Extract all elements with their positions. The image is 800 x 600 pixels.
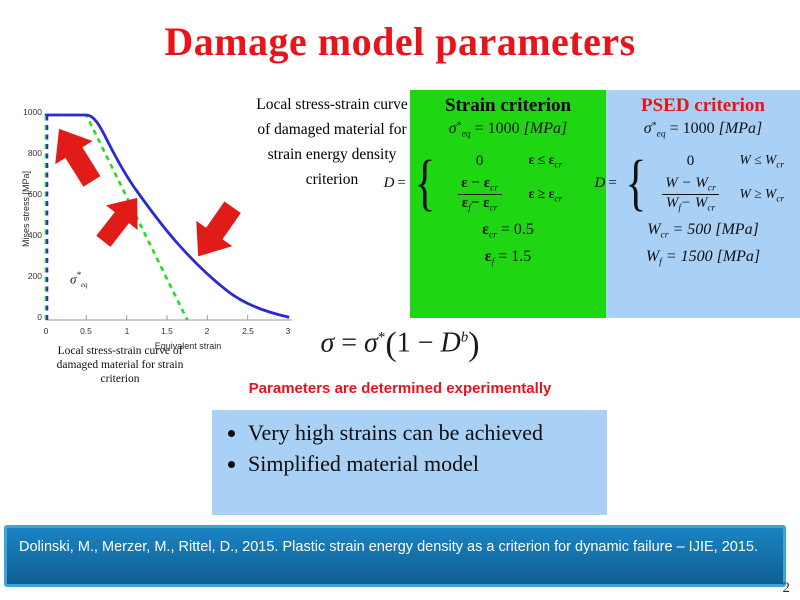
psed-case-one-cond-text: W ≤ W [740, 152, 777, 167]
parameters-note: Parameters are determined experimentally [0, 380, 800, 397]
master-eq-lhs: σ [320, 328, 334, 359]
strain-sigma-unit: [MPa] [524, 120, 568, 137]
psed-wf-value: = 1500 [MPa] [666, 248, 760, 265]
strain-epsilon-f-value: = 1.5 [498, 248, 531, 265]
strain-frac-num-text: ε − ε [461, 175, 490, 191]
master-eq-close-paren: ) [468, 326, 479, 363]
strain-case-two-cond-sub: cr [554, 194, 562, 204]
arrow-up-left-icon [48, 122, 104, 190]
strain-frac-num-sub: cr [490, 184, 498, 194]
strain-case-two-fraction: ε − εcr εf− εcr [441, 175, 519, 214]
page-number: 2 [783, 580, 791, 597]
chart-y-ticks: 1000 800 600 400 200 0 [8, 104, 42, 314]
strain-case-two-cond-text: ε ≥ ε [529, 186, 555, 201]
master-eq-rhs-sigma: σ [364, 328, 378, 359]
psed-wcr-symbol: W [647, 221, 660, 238]
strain-epsilon-cr-value: = 0.5 [501, 221, 534, 238]
psed-case-one-cond: W ≤ Wcr [740, 152, 800, 170]
damage-master-equation: σ = σ*(1 − Db) [0, 326, 800, 364]
strain-criterion-panel: Strain criterion σ*eq = 1000 [MPa] D = {… [410, 90, 606, 318]
strain-case-one: 0 ε ≤ εcr [441, 152, 601, 170]
y-tick-400: 400 [8, 230, 42, 240]
arrow-up-right-icon [94, 190, 146, 250]
strain-case-two: ε − εcr εf− εcr ε ≥ εcr [441, 175, 601, 214]
strain-case-two-cond: ε ≥ εcr [529, 186, 601, 204]
y-tick-800: 800 [8, 148, 42, 158]
strain-case-one-cond: ε ≤ εcr [529, 152, 601, 170]
psed-wcr-value: = 500 [MPa] [672, 221, 758, 238]
psed-case-one: 0 W ≤ Wcr [652, 152, 800, 170]
strain-frac-den-rest-sub: cr [490, 204, 498, 214]
strain-damage-equals: = [397, 175, 405, 192]
left-brace-icon: { [625, 161, 646, 206]
master-eq-d: D [440, 328, 460, 359]
strain-frac-den-rest: − ε [471, 195, 490, 211]
psed-damage-equals: = [608, 175, 616, 192]
strain-case-one-value: 0 [441, 153, 519, 170]
psed-wcr-line: Wcr = 500 [MPa] [606, 221, 800, 240]
psed-case-one-value: 0 [652, 153, 730, 170]
psed-damage-symbol: D [594, 175, 605, 192]
psed-frac-den-first: W [666, 195, 679, 211]
psed-sigma-unit: [MPa] [719, 120, 763, 137]
list-item: Simplified material model [248, 451, 601, 478]
y-tick-200: 200 [8, 271, 42, 281]
strain-epsilon-f-line: εf = 1.5 [410, 248, 606, 267]
arrow-down-left-icon [186, 198, 246, 264]
strain-damage-symbol: D [384, 175, 395, 192]
psed-sigma-symbol: σ [644, 120, 652, 137]
psed-wf-line: Wf = 1500 [MPa] [606, 248, 800, 267]
psed-frac-numerator: W − Wcr [661, 175, 720, 194]
strain-sigma-symbol: σ [449, 120, 457, 137]
psed-frac-num-text: W − W [665, 175, 708, 191]
psed-case-two-cond-text: W ≥ W [740, 186, 777, 201]
sigma-eq-label: σ*eq [70, 270, 88, 289]
psed-damage-piecewise: D = { 0 W ≤ Wcr W − Wcr Wf− Wcr [606, 152, 800, 214]
strain-epsilon-f-sub: f [492, 257, 495, 267]
master-eq-equals: = [341, 328, 357, 359]
strain-frac-denominator: εf− εcr [458, 194, 502, 214]
slide-canvas: Damage model parameters Mises stress [MP… [0, 0, 800, 600]
strain-damage-piecewise: D = { 0 ε ≤ εcr ε − εcr εf− εcr [410, 152, 606, 214]
strain-sigma-equals: = [475, 120, 484, 137]
strain-epsilon-f-symbol: ε [485, 248, 492, 265]
psed-frac-den-rest-sub: cr [707, 204, 715, 214]
strain-sigma-value: 1000 [488, 120, 520, 137]
psed-frac-num-sub: cr [708, 184, 716, 194]
list-item: Very high strains can be achieved [248, 420, 601, 447]
strain-case-one-cond-sub: cr [554, 160, 562, 170]
psed-case-two-cond: W ≥ Wcr [740, 186, 800, 204]
psed-criterion-heading: PSED criterion [606, 94, 800, 118]
y-tick-0: 0 [8, 312, 42, 322]
sigma-star: * [76, 270, 81, 280]
psed-case-one-cond-sub: cr [776, 160, 784, 170]
page-title: Damage model parameters [0, 18, 800, 65]
psed-wcr-sub: cr [661, 231, 669, 241]
y-tick-1000: 1000 [8, 107, 42, 117]
y-tick-600: 600 [8, 189, 42, 199]
chart-x-tickmarks [46, 315, 288, 320]
conclusions-box: Very high strains can be achieved Simpli… [212, 410, 607, 515]
strain-epsilon-cr-symbol: ε [482, 221, 489, 238]
strain-case-one-cond-text: ε ≤ ε [529, 152, 555, 167]
strain-epsilon-cr-line: εcr = 0.5 [410, 221, 606, 240]
psed-wf-sub: f [659, 257, 662, 267]
psed-criterion-panel: PSED criterion σ*eq = 1000 [MPa] D = { 0… [606, 90, 800, 318]
criteria-panels: Strain criterion σ*eq = 1000 [MPa] D = {… [410, 90, 800, 318]
master-eq-one: 1 [397, 328, 411, 359]
conclusions-list: Very high strains can be achieved Simpli… [226, 420, 601, 478]
strain-criterion-heading: Strain criterion [410, 94, 606, 118]
master-eq-minus: − [418, 328, 434, 359]
strain-sigma-sub: eq [462, 129, 471, 139]
master-eq-open-paren: ( [385, 326, 396, 363]
citation-bar: Dolinski, M., Merzer, M., Rittel, D., 20… [4, 525, 786, 587]
strain-sigma-equation: σ*eq = 1000 [MPa] [410, 120, 606, 139]
psed-case-two-fraction: W − Wcr Wf− Wcr [652, 175, 730, 214]
psed-wf-symbol: W [646, 248, 659, 265]
strain-frac-numerator: ε − εcr [457, 175, 502, 194]
psed-sigma-equation: σ*eq = 1000 [MPa] [606, 120, 800, 139]
psed-case-two: W − Wcr Wf− Wcr W ≥ Wcr [652, 175, 800, 214]
psed-sigma-sub: eq [657, 129, 666, 139]
strain-epsilon-cr-sub: cr [489, 231, 497, 241]
left-brace-icon: { [414, 161, 435, 206]
psed-sigma-value: 1000 [683, 120, 715, 137]
psed-frac-den-rest: − W [681, 195, 707, 211]
sigma-sub: eq [81, 281, 88, 289]
psed-case-two-cond-sub: cr [776, 194, 784, 204]
psed-sigma-equals: = [670, 120, 679, 137]
psed-frac-denominator: Wf− Wcr [662, 194, 719, 214]
